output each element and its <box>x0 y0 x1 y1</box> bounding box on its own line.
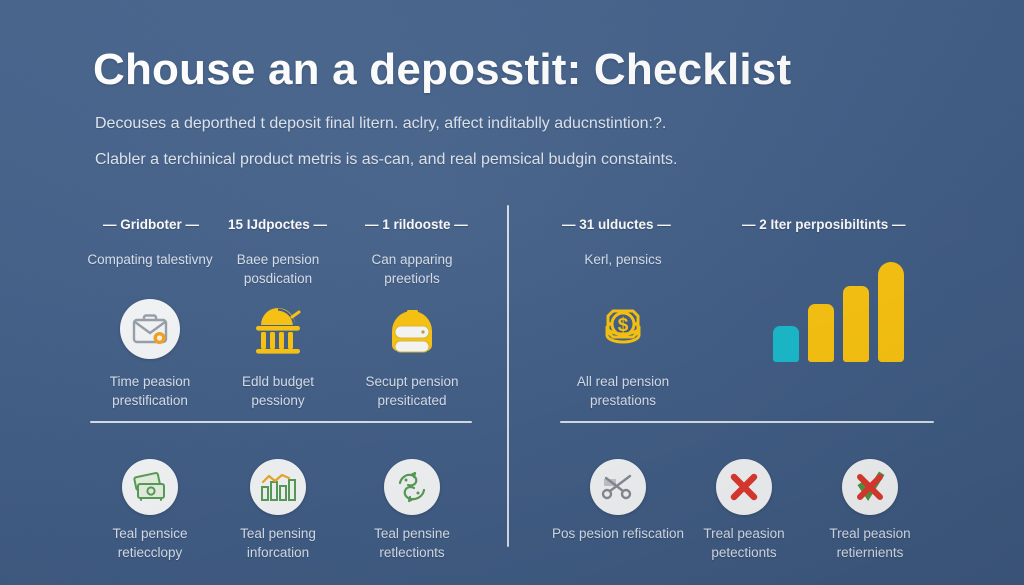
infographic-poster: Chouse an a deposstit: Checklist Decouse… <box>0 0 1024 585</box>
subtitle-line-2: Clabler a terchinical product metris is … <box>95 149 955 171</box>
subtitle-line-1: Decouses a deporthed t deposit final lit… <box>95 113 955 135</box>
bar-chart-trend-icon-wrap <box>214 454 342 520</box>
left-top-cell-3: Can apparing preetiorls Secupt pension p… <box>348 250 476 410</box>
red-cross-icon <box>716 459 772 515</box>
bank-dome-icon-wrap <box>214 290 342 368</box>
bar-chart-bar-4 <box>878 262 904 362</box>
scissors-cut-icon <box>590 459 646 515</box>
scissors-cut-icon-wrap <box>548 454 688 520</box>
red-cross-icon-wrap <box>680 454 808 520</box>
globe-fish-icon <box>384 459 440 515</box>
banknotes-icon <box>122 459 178 515</box>
right-top-cell-1-caption-bottom: All real pension prestations <box>548 372 698 410</box>
stacked-layers-icon-wrap <box>348 290 476 368</box>
left-bottom-cell-2-caption: Teal pensing inforcation <box>214 524 342 562</box>
horizontal-divider-right <box>560 421 934 423</box>
red-cross-check-icon <box>842 459 898 515</box>
horizontal-divider-left <box>90 421 472 423</box>
left-top-cell-3-caption-bottom: Secupt pension presiticated <box>348 372 476 410</box>
right-bottom-cell-3: Treal peasion retiernients <box>806 452 934 562</box>
left-bottom-cell-3-caption: Teal pensine retlectionts <box>348 524 476 562</box>
briefcase-envelope-icon-wrap <box>86 290 214 368</box>
right-column-header-2: — 2 Iter perposibiltints — <box>742 217 906 232</box>
bar-chart-bar-3 <box>843 286 869 362</box>
left-top-cell-2: Baee pension posdication Edld budget pes… <box>214 250 342 410</box>
left-top-cell-2-caption-top: Baee pension posdication <box>214 250 342 288</box>
right-bottom-cell-2: Treal peasion petectionts <box>680 452 808 562</box>
right-bottom-cell-2-caption: Treal peasion petectionts <box>680 524 808 562</box>
stacked-layers-icon <box>383 301 441 357</box>
left-column-header-2: 15 IJdpoctes — <box>228 217 327 232</box>
right-top-cell-1: Kerl, pensics $ All real pension prestat… <box>548 250 698 410</box>
dollar-coin-icon-wrap: $ <box>548 290 698 368</box>
left-column-header-1: — Gridboter — <box>103 217 199 232</box>
left-bottom-cell-1-caption: Teal pensice retiecclopy <box>86 524 214 562</box>
left-bottom-cell-3: Teal pensine retlectionts <box>348 452 476 562</box>
right-bottom-cell-1-caption: Pos pesion refiscation <box>548 524 688 543</box>
bar-chart-bars <box>773 266 904 362</box>
left-top-cell-2-caption-bottom: Edld budget pessiony <box>214 372 342 410</box>
left-bottom-cell-2: Teal pensing inforcation <box>214 452 342 562</box>
left-top-cell-1-caption-bottom: Time peasion prestification <box>86 372 214 410</box>
left-top-cell-1: Compating talestivny Time peasion presti… <box>86 250 214 410</box>
bar-chart-bar-2 <box>808 304 834 362</box>
briefcase-envelope-icon <box>120 299 180 359</box>
svg-text:$: $ <box>618 315 629 336</box>
bar-chart-icon <box>738 250 938 362</box>
left-bottom-cell-1: Teal pensice retiecclopy <box>86 452 214 562</box>
left-top-cell-1-caption-top: Compating talestivny <box>86 250 214 288</box>
bar-chart-trend-icon <box>250 459 306 515</box>
red-cross-check-icon-wrap <box>806 454 934 520</box>
vertical-divider <box>507 205 509 547</box>
globe-fish-icon-wrap <box>348 454 476 520</box>
bar-chart-bar-1 <box>773 326 799 362</box>
right-bottom-cell-1: Pos pesion refiscation <box>548 452 688 543</box>
dollar-coin-icon: $ <box>592 298 654 360</box>
right-bottom-cell-3-caption: Treal peasion retiernients <box>806 524 934 562</box>
right-top-cell-1-caption-top: Kerl, pensics <box>548 250 698 288</box>
page-title: Chouse an a deposstit: Checklist <box>93 44 943 96</box>
right-column-header-1: — 31 ulductes — <box>562 217 671 232</box>
left-top-cell-3-caption-top: Can apparing preetiorls <box>348 250 476 288</box>
left-column-header-3: — 1 rildooste — <box>365 217 468 232</box>
bank-dome-icon <box>248 301 308 357</box>
right-top-cell-2 <box>738 250 938 362</box>
banknotes-icon-wrap <box>86 454 214 520</box>
